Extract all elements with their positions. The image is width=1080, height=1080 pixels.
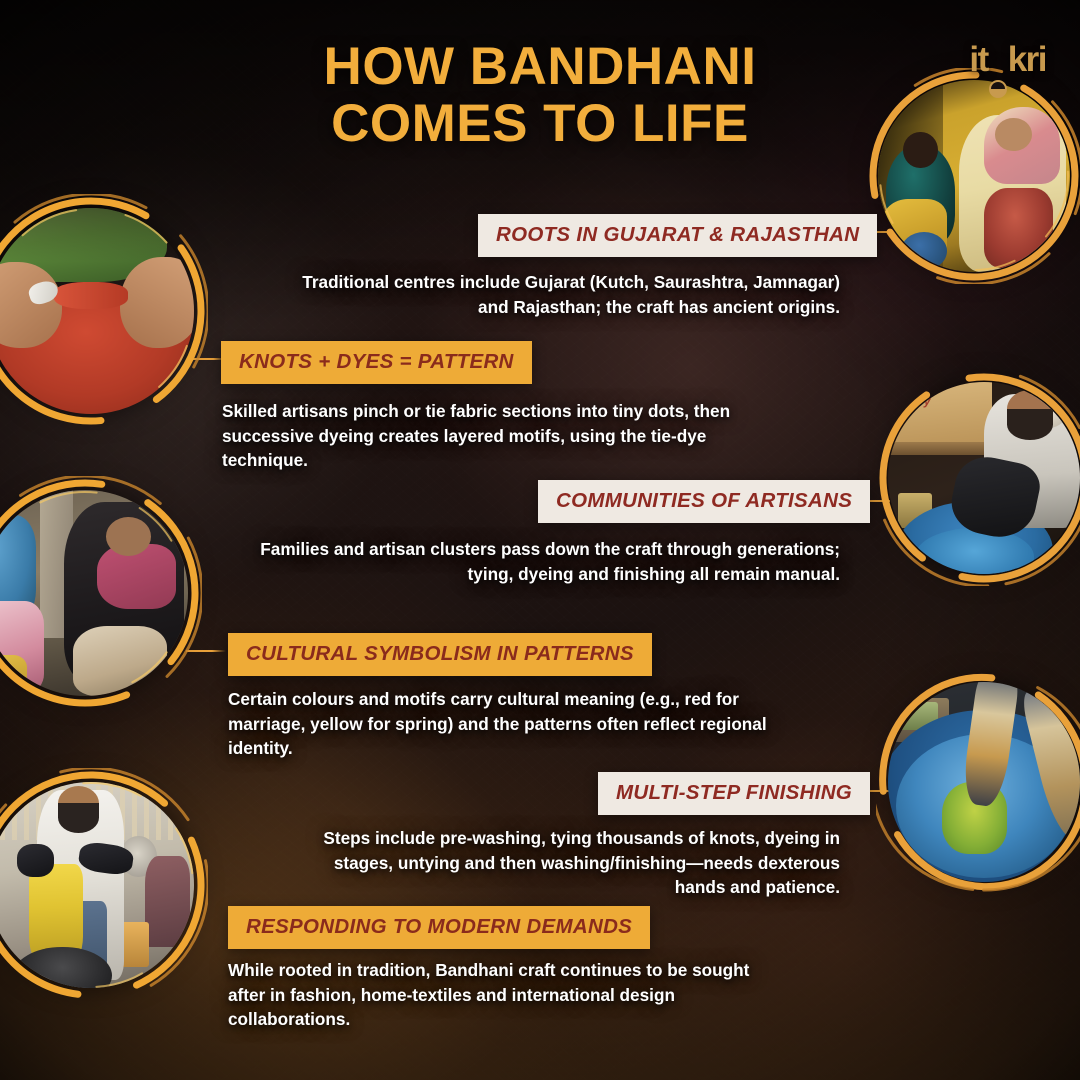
section-body-finishing: Steps include pre-washing, tying thousan… [310,826,840,900]
section-label-finishing[interactable]: MULTI-STEP FINISHING [598,772,870,815]
title-line-1: HOW BANDHANI [0,38,1080,95]
photo-yellow-skein-scene [0,782,194,988]
photo-dyer-blue-tub-scene: y . y [888,382,1080,574]
photo-hands-red-fabric-scene [0,208,194,414]
photo-yellow-skein [0,782,194,988]
photo-dyer-blue-tub: y . y [888,382,1080,574]
section-label-modern[interactable]: RESPONDING TO MODERN DEMANDS [228,906,650,949]
section-body-symbolism: Certain colours and motifs carry cultura… [228,687,768,761]
photo-hands-red-fabric [0,208,194,414]
section-label-communities[interactable]: COMMUNITIES OF ARTISANS [538,480,870,523]
section-body-knots: Skilled artisans pinch or tie fabric sec… [222,399,742,473]
section-label-symbolism[interactable]: CULTURAL SYMBOLISM IN PATTERNS [228,633,652,676]
section-body-communities: Families and artisan clusters pass down … [240,537,840,586]
photo-woman-black-tying-scene [0,490,188,696]
logo-text-before: it [969,40,987,79]
photo-woman-black-tying [0,490,188,696]
section-body-roots: Traditional centres include Gujarat (Kut… [270,270,840,319]
logo-text-after: kri [1008,40,1046,79]
section-label-knots[interactable]: KNOTS + DYES = PATTERN [221,341,532,384]
page-title: HOW BANDHANI COMES TO LIFE [0,38,1080,152]
section-label-roots[interactable]: ROOTS IN GUJARAT & RAJASTHAN [478,214,877,257]
section-body-modern: While rooted in tradition, Bandhani craf… [228,958,788,1032]
infographic-poster: HOW BANDHANI COMES TO LIFE itokri [0,0,1080,1080]
photo-indigo-vat-scene [888,682,1080,882]
photo-indigo-vat [888,682,1080,882]
cardboard-label: y . y [907,394,930,408]
title-line-2: COMES TO LIFE [0,95,1080,152]
connector-line-4 [186,650,226,652]
itokri-logo[interactable]: itokri [969,40,1046,80]
